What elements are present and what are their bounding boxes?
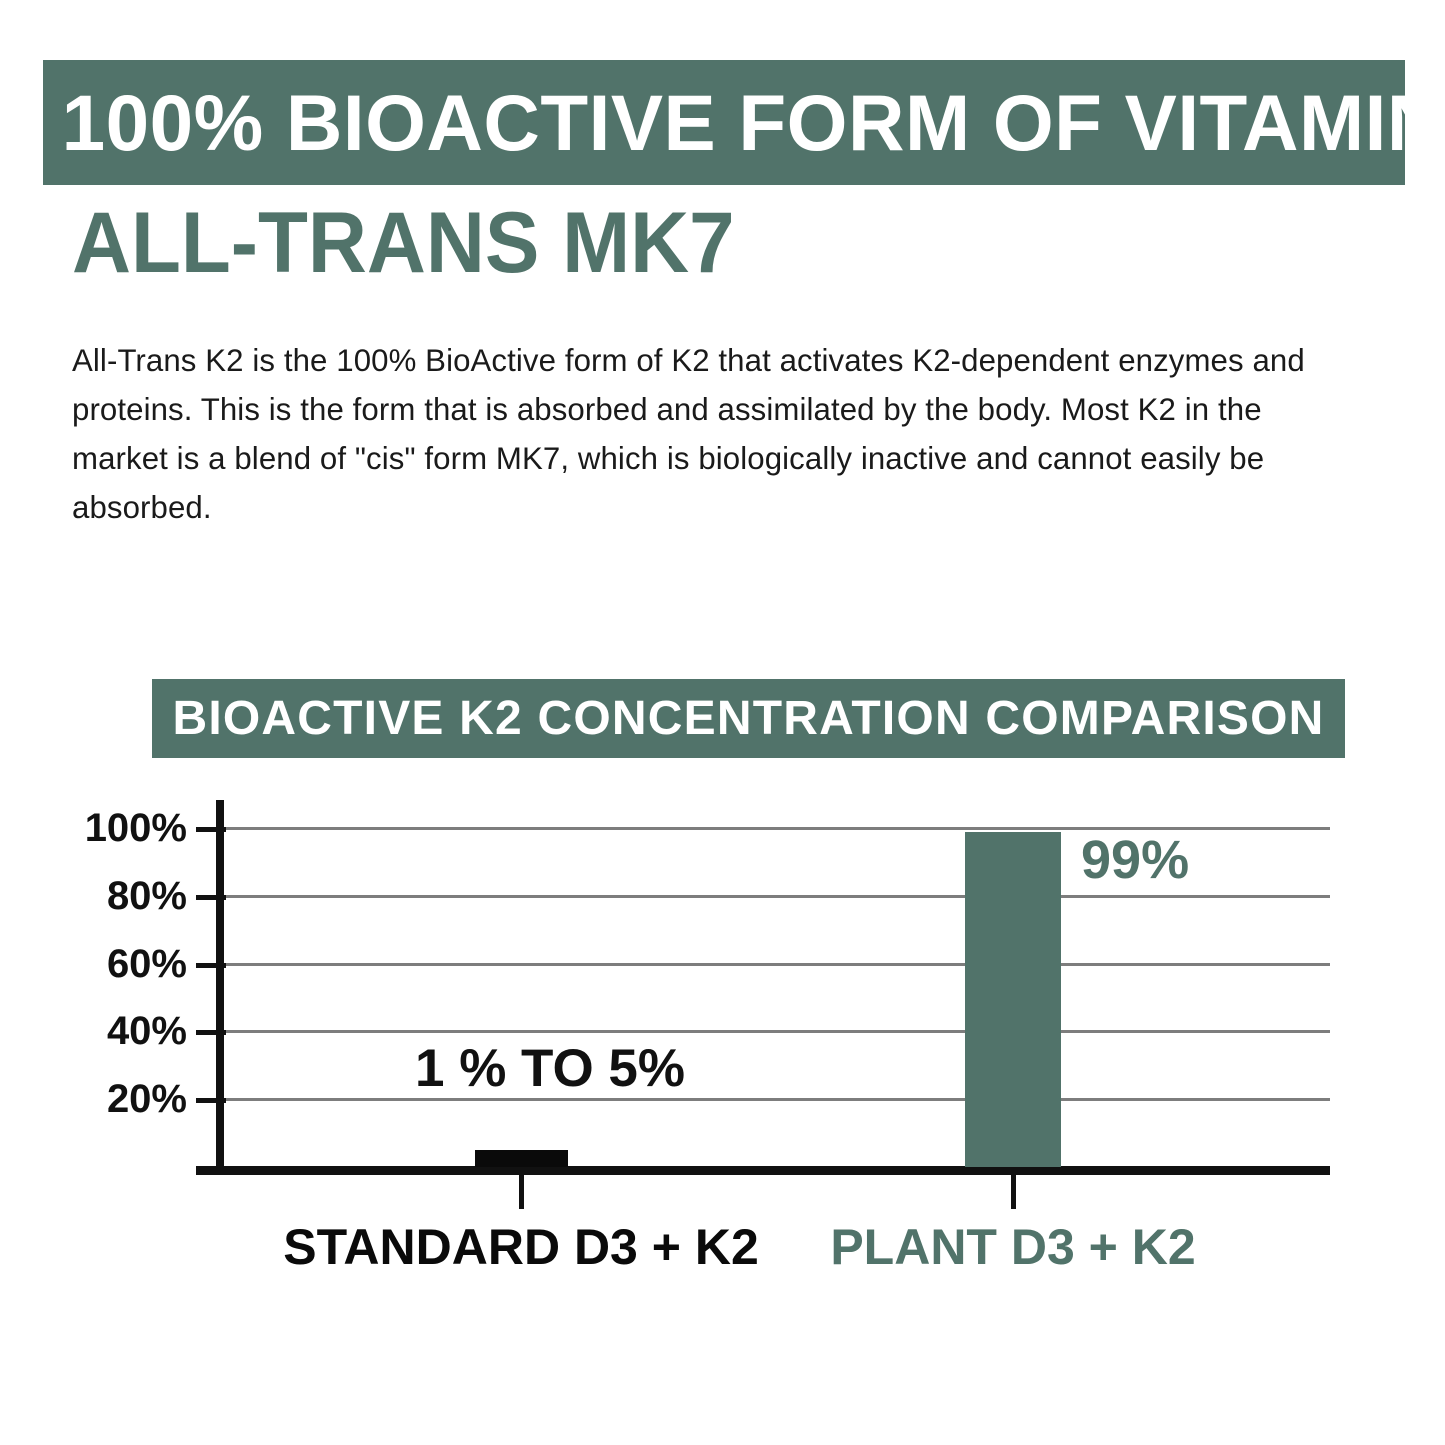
- y-axis-line: [216, 800, 224, 1172]
- x-tick-standard: [519, 1175, 524, 1209]
- bar-standard-d3-k2: [475, 1150, 568, 1167]
- y-axis-label-100: 100%: [47, 808, 187, 848]
- x-category-label-plant: PLANT D3 + K2: [830, 1222, 1195, 1272]
- body-paragraph: All-Trans K2 is the 100% BioActive form …: [72, 336, 1331, 532]
- gridline-60: [222, 963, 1330, 966]
- header-banner: THE 100% BIOACTIVE FORM OF VITAMIN K2: [43, 60, 1405, 185]
- y-axis-label-80: 80%: [47, 876, 187, 916]
- sub-headline: ALL-TRANS MK7: [72, 198, 735, 288]
- gridline-20: [222, 1098, 1330, 1101]
- chart-title-banner: BIOACTIVE K2 CONCENTRATION COMPARISON: [152, 679, 1345, 758]
- x-category-label-standard: STANDARD D3 + K2: [283, 1222, 759, 1272]
- x-axis-line: [196, 1166, 1330, 1175]
- gridline-40: [222, 1030, 1330, 1033]
- bar-plant-d3-k2: [965, 832, 1061, 1167]
- infographic-page: THE 100% BIOACTIVE FORM OF VITAMIN K2 AL…: [0, 0, 1445, 1445]
- value-label-standard: 1 % TO 5%: [415, 1042, 685, 1095]
- x-tick-plant: [1011, 1175, 1016, 1209]
- y-axis-label-60: 60%: [47, 944, 187, 984]
- y-axis-label-40: 40%: [47, 1011, 187, 1051]
- chart-title: BIOACTIVE K2 CONCENTRATION COMPARISON: [173, 695, 1325, 743]
- value-label-plant: 99%: [1081, 833, 1189, 887]
- y-axis-label-20: 20%: [47, 1079, 187, 1119]
- gridline-80: [222, 895, 1330, 898]
- header-banner-title: THE 100% BIOACTIVE FORM OF VITAMIN K2: [43, 83, 1405, 162]
